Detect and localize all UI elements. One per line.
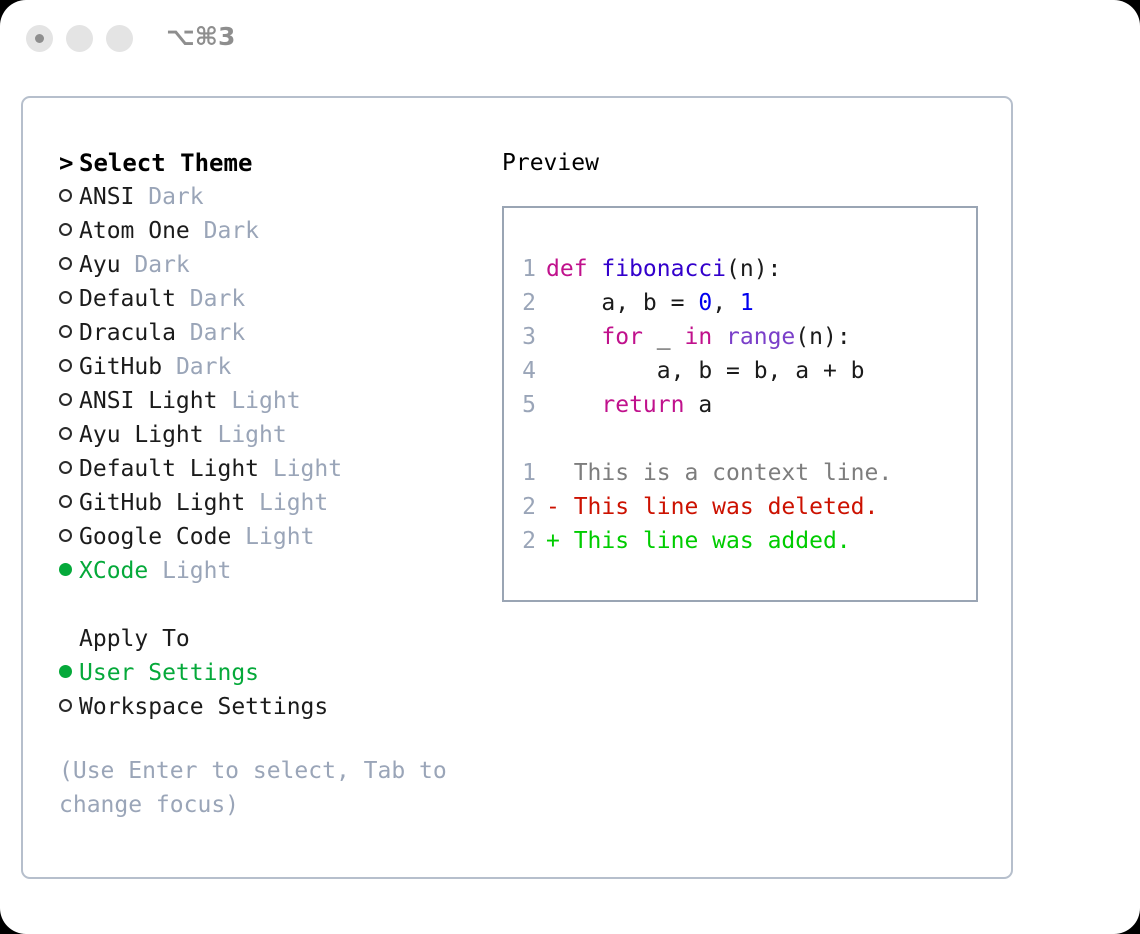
code-line: 1def fibonacci(n): bbox=[522, 252, 892, 286]
diff-sign-added: + bbox=[546, 528, 560, 554]
radio-unselected-icon bbox=[59, 486, 79, 520]
diff-line-text: This line was deleted. bbox=[560, 494, 879, 520]
theme-option-ansi[interactable]: ANSI Dark bbox=[59, 180, 489, 214]
code-diff-separator bbox=[522, 422, 892, 456]
radio-glyph bbox=[59, 189, 72, 202]
radio-glyph bbox=[59, 325, 72, 338]
radio-glyph bbox=[59, 291, 72, 304]
radio-unselected-icon bbox=[59, 214, 79, 248]
radio-unselected-icon bbox=[59, 180, 79, 214]
theme-option-atom-one[interactable]: Atom One Dark bbox=[59, 214, 489, 248]
keyboard-shortcut-label: ⌥⌘3 bbox=[166, 22, 235, 51]
theme-option-ayu-light[interactable]: Ayu Light Light bbox=[59, 418, 489, 452]
select-theme-heading: >Select Theme bbox=[59, 146, 489, 180]
preview-box: 1def fibonacci(n):2 a, b = 0, 13 for _ i… bbox=[502, 206, 978, 602]
code-token-plain bbox=[546, 392, 601, 418]
radio-glyph bbox=[59, 665, 72, 678]
theme-variant-tag: Dark bbox=[190, 218, 259, 244]
theme-option-google-code[interactable]: Google Code Light bbox=[59, 520, 489, 554]
theme-option-label: Ayu bbox=[79, 252, 121, 278]
theme-variant-tag: Light bbox=[217, 388, 300, 414]
diff-line-number: 2 bbox=[522, 490, 536, 524]
theme-variant-tag: Dark bbox=[176, 320, 245, 346]
radio-unselected-icon bbox=[59, 248, 79, 282]
code-line-number: 1 bbox=[522, 252, 536, 286]
prompt-caret-icon: > bbox=[59, 146, 79, 180]
apply-to-heading: Apply To bbox=[59, 622, 489, 656]
radio-unselected-icon bbox=[59, 690, 79, 724]
apply-to-option-list: User SettingsWorkspace Settings bbox=[59, 656, 489, 724]
code-line-number: 4 bbox=[522, 354, 536, 388]
radio-glyph bbox=[59, 223, 72, 236]
radio-unselected-icon bbox=[59, 520, 79, 554]
code-token-plain bbox=[712, 324, 726, 350]
code-token-keyword: return bbox=[601, 392, 684, 418]
code-token-number: 1 bbox=[740, 290, 754, 316]
radio-glyph bbox=[59, 529, 72, 542]
traffic-light-zoom-icon[interactable] bbox=[106, 25, 133, 52]
app-window: ⌥⌘3 >Select Theme ANSI DarkAtom One Dark… bbox=[0, 0, 1140, 934]
radio-selected-icon bbox=[59, 554, 79, 588]
code-preview: 1def fibonacci(n):2 a, b = 0, 13 for _ i… bbox=[522, 252, 892, 558]
diff-sign-context bbox=[546, 460, 560, 486]
theme-option-github[interactable]: GitHub Dark bbox=[59, 350, 489, 384]
code-token-function: fibonacci bbox=[601, 256, 726, 282]
theme-variant-tag: Light bbox=[231, 524, 314, 550]
radio-unselected-icon bbox=[59, 350, 79, 384]
radio-unselected-icon bbox=[59, 384, 79, 418]
apply-to-option-label: Workspace Settings bbox=[79, 694, 328, 720]
theme-option-label: XCode bbox=[79, 558, 148, 584]
theme-option-label: Ayu Light bbox=[79, 422, 204, 448]
code-token-keyword: for bbox=[601, 324, 643, 350]
code-token-keyword: def bbox=[546, 256, 601, 282]
keyboard-hint-text: (Use Enter to select, Tab to change focu… bbox=[59, 754, 459, 822]
theme-variant-tag: Light bbox=[148, 558, 231, 584]
theme-variant-tag: Light bbox=[204, 422, 287, 448]
code-token-plain: a, b = bbox=[546, 290, 698, 316]
theme-option-label: ANSI bbox=[79, 184, 134, 210]
theme-variant-tag: Dark bbox=[176, 286, 245, 312]
theme-variant-tag: Dark bbox=[134, 184, 203, 210]
theme-option-github-light[interactable]: GitHub Light Light bbox=[59, 486, 489, 520]
theme-selection-panel: >Select Theme ANSI DarkAtom One DarkAyu … bbox=[21, 96, 1013, 879]
apply-to-heading-label: Apply To bbox=[79, 626, 190, 652]
code-line: 5 return a bbox=[522, 388, 892, 422]
radio-unselected-icon bbox=[59, 282, 79, 316]
radio-glyph bbox=[59, 393, 72, 406]
radio-unselected-icon bbox=[59, 452, 79, 486]
theme-option-label: Dracula bbox=[79, 320, 176, 346]
theme-variant-tag: Dark bbox=[121, 252, 190, 278]
code-line: 2 a, b = 0, 1 bbox=[522, 286, 892, 320]
theme-option-label: GitHub Light bbox=[79, 490, 245, 516]
theme-option-label: Default bbox=[79, 286, 176, 312]
theme-option-ansi-light[interactable]: ANSI Light Light bbox=[59, 384, 489, 418]
code-line-number: 3 bbox=[522, 320, 536, 354]
code-token-plain: (n): bbox=[726, 256, 781, 282]
theme-option-list: ANSI DarkAtom One DarkAyu DarkDefault Da… bbox=[59, 180, 489, 588]
apply-to-option-user-settings[interactable]: User Settings bbox=[59, 656, 489, 690]
title-bar: ⌥⌘3 bbox=[0, 0, 1140, 78]
traffic-light-minimize-icon[interactable] bbox=[66, 25, 93, 52]
theme-option-ayu[interactable]: Ayu Dark bbox=[59, 248, 489, 282]
code-token-keyword: in bbox=[684, 324, 712, 350]
radio-glyph bbox=[59, 359, 72, 372]
code-line: 4 a, b = b, a + b bbox=[522, 354, 892, 388]
radio-glyph bbox=[59, 563, 72, 576]
apply-to-option-label: User Settings bbox=[79, 660, 259, 686]
code-token-plain: , bbox=[712, 290, 740, 316]
theme-variant-tag: Light bbox=[259, 456, 342, 482]
diff-line-number: 2 bbox=[522, 524, 536, 558]
theme-option-label: Atom One bbox=[79, 218, 190, 244]
theme-option-default[interactable]: Default Dark bbox=[59, 282, 489, 316]
code-line: 3 for _ in range(n): bbox=[522, 320, 892, 354]
theme-option-label: Google Code bbox=[79, 524, 231, 550]
diff-line-added: 2+ This line was added. bbox=[522, 524, 892, 558]
radio-glyph bbox=[59, 495, 72, 508]
select-theme-heading-label: Select Theme bbox=[79, 149, 252, 177]
theme-list-column: >Select Theme ANSI DarkAtom One DarkAyu … bbox=[59, 146, 489, 822]
code-token-builtin: range bbox=[726, 324, 795, 350]
code-token-plain: _ bbox=[643, 324, 685, 350]
diff-line-number: 1 bbox=[522, 456, 536, 490]
preview-heading: Preview bbox=[502, 146, 982, 180]
code-token-plain: a bbox=[684, 392, 712, 418]
code-token-plain bbox=[546, 324, 601, 350]
code-line-number: 5 bbox=[522, 388, 536, 422]
radio-glyph bbox=[59, 699, 72, 712]
radio-unselected-icon bbox=[59, 418, 79, 452]
code-token-plain: a, b = b, a + b bbox=[546, 358, 865, 384]
radio-unselected-icon bbox=[59, 316, 79, 350]
code-line-number: 2 bbox=[522, 286, 536, 320]
theme-option-label: ANSI Light bbox=[79, 388, 217, 414]
diff-line-text: This line was added. bbox=[560, 528, 851, 554]
diff-line-context: 1 This is a context line. bbox=[522, 456, 892, 490]
code-token-number: 0 bbox=[698, 290, 712, 316]
radio-glyph bbox=[59, 257, 72, 270]
theme-option-default-light[interactable]: Default Light Light bbox=[59, 452, 489, 486]
preview-column: Preview 1def fibonacci(n):2 a, b = 0, 13… bbox=[502, 146, 982, 602]
apply-to-option-workspace-settings[interactable]: Workspace Settings bbox=[59, 690, 489, 724]
code-token-plain: (n): bbox=[795, 324, 850, 350]
theme-option-dracula[interactable]: Dracula Dark bbox=[59, 316, 489, 350]
diff-line-deleted: 2- This line was deleted. bbox=[522, 490, 892, 524]
theme-option-xcode[interactable]: XCode Light bbox=[59, 554, 489, 588]
theme-variant-tag: Dark bbox=[162, 354, 231, 380]
traffic-light-close-icon[interactable] bbox=[26, 25, 53, 52]
theme-option-label: Default Light bbox=[79, 456, 259, 482]
diff-line-text: This is a context line. bbox=[560, 460, 892, 486]
radio-glyph bbox=[59, 461, 72, 474]
theme-variant-tag: Light bbox=[245, 490, 328, 516]
radio-selected-icon bbox=[59, 656, 79, 690]
diff-sign-deleted: - bbox=[546, 494, 560, 520]
radio-glyph bbox=[59, 427, 72, 440]
theme-option-label: GitHub bbox=[79, 354, 162, 380]
section-spacer bbox=[59, 588, 489, 622]
